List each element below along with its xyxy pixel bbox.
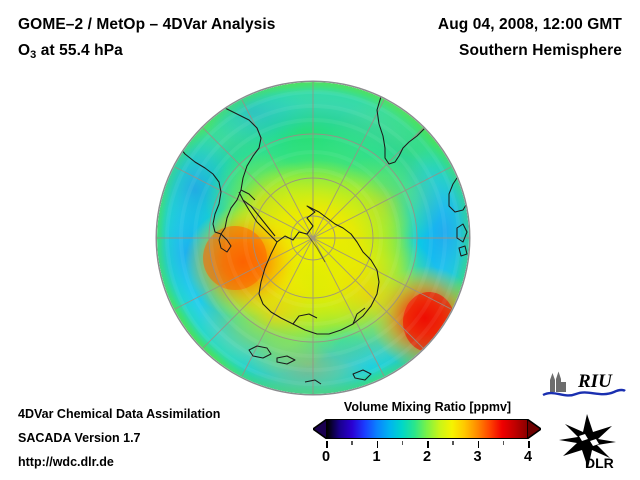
colorbar-tick-label: 1 bbox=[372, 449, 380, 465]
colorbar-tick bbox=[326, 441, 328, 448]
colorbar-tick-label: 3 bbox=[473, 449, 481, 465]
colorbar-tick-label: 4 bbox=[524, 449, 532, 465]
colorbar-gradient bbox=[326, 419, 528, 439]
colorbar-title: Volume Mixing Ratio [ppmv] bbox=[314, 400, 541, 414]
riu-logo: RIU bbox=[542, 370, 626, 404]
dlr-logo: DLR bbox=[552, 412, 622, 470]
footer-url[interactable]: http://wdc.dlr.de bbox=[18, 450, 220, 474]
header-left: GOME–2 / MetOp – 4DVar Analysis O3 at 55… bbox=[18, 12, 276, 65]
footer-line-2: SACADA Version 1.7 bbox=[18, 426, 220, 450]
colorbar-extend-low-arrow bbox=[313, 419, 327, 439]
colorbar-minor-tick bbox=[503, 441, 505, 445]
colorbar-tick bbox=[528, 441, 530, 448]
header-right: Aug 04, 2008, 12:00 GMT Southern Hemisph… bbox=[438, 12, 622, 64]
colorbar-minor-tick bbox=[402, 441, 404, 445]
map-render bbox=[157, 82, 469, 394]
colorbar-tick bbox=[377, 441, 379, 448]
species-symbol: O bbox=[18, 42, 30, 59]
map-field bbox=[157, 82, 469, 394]
colorbar-minor-tick bbox=[351, 441, 353, 445]
colorbar-tick bbox=[478, 441, 480, 448]
colorbar-tick-label: 2 bbox=[423, 449, 431, 465]
footer-line-1: 4DVar Chemical Data Assimilation bbox=[18, 402, 220, 426]
figure-canvas: GOME–2 / MetOp – 4DVar Analysis O3 at 55… bbox=[0, 0, 640, 480]
species-subscript: 3 bbox=[30, 49, 36, 61]
globe-disc bbox=[157, 82, 469, 394]
species-level: at 55.4 hPa bbox=[36, 42, 123, 59]
species-label: O3 at 55.4 hPa bbox=[18, 38, 276, 65]
colorbar-tick-label: 0 bbox=[322, 449, 330, 465]
riu-wordmark: RIU bbox=[577, 371, 613, 392]
footer-credits: 4DVar Chemical Data Assimilation SACADA … bbox=[18, 402, 220, 474]
logo-group: RIU DLR bbox=[534, 370, 630, 474]
colorbar: Volume Mixing Ratio [ppmv] 01234 bbox=[313, 400, 541, 471]
colorbar-axis: 01234 bbox=[326, 441, 528, 471]
colorbar-tick bbox=[427, 441, 429, 448]
timestamp-label: Aug 04, 2008, 12:00 GMT bbox=[438, 12, 622, 38]
region-label: Southern Hemisphere bbox=[438, 38, 622, 64]
dlr-wordmark: DLR bbox=[585, 455, 614, 470]
polar-map bbox=[157, 82, 469, 394]
graticule bbox=[157, 82, 469, 394]
page-title: GOME–2 / MetOp – 4DVar Analysis bbox=[18, 12, 276, 38]
colorbar-strip bbox=[313, 419, 541, 441]
cathedral-icon bbox=[550, 372, 566, 393]
colorbar-minor-tick bbox=[452, 441, 454, 445]
